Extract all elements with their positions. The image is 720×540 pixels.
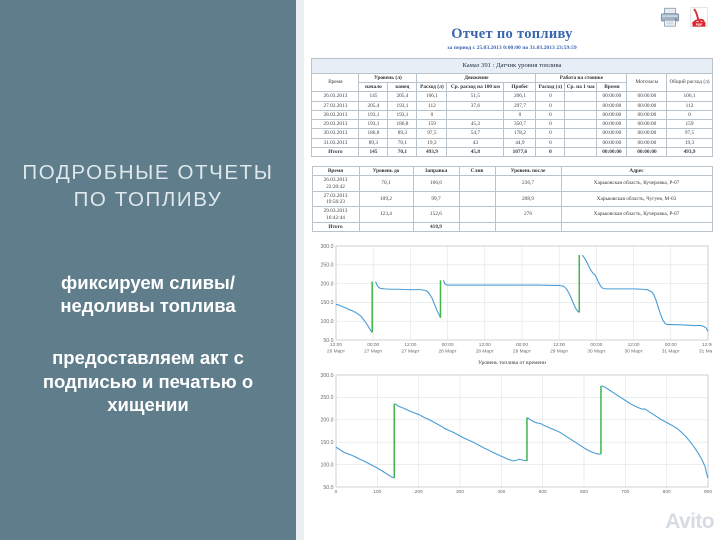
- promo-panel: Подробные отчеты по топливу фиксируем сл…: [0, 0, 296, 540]
- table-cell: 206,1: [504, 92, 536, 101]
- x-tick-time: 12:00: [330, 342, 342, 348]
- x-tick-time: 00:00: [367, 342, 379, 348]
- group-header-idle: Работа на стоянке: [536, 73, 627, 82]
- table-cell: [459, 191, 495, 207]
- x-tick-date: 30 Март: [625, 349, 644, 355]
- column-header: Уровень до: [359, 167, 413, 176]
- x-tick-label: 200: [415, 489, 423, 495]
- x-tick-date: 29 Март: [513, 349, 532, 355]
- table-cell: [459, 176, 495, 192]
- table-cell: 97,5: [667, 129, 712, 138]
- y-tick-label: 150.0: [321, 300, 334, 306]
- table-cell: 0: [536, 129, 565, 138]
- report-panel: PDF Отчет по топливу за период с 25.03.2…: [304, 0, 720, 540]
- y-tick-label: 100.0: [321, 462, 334, 468]
- device-header-row: Камаз 391 : Датчик уровня топлива: [312, 59, 712, 74]
- y-tick-label: 200.0: [321, 418, 334, 424]
- column-header: Заправка: [413, 167, 459, 176]
- table-cell: 19,3: [667, 138, 712, 147]
- table-cell: 00:00:00: [597, 129, 627, 138]
- table-cell: 89,3: [359, 138, 388, 147]
- table-row: 27.03.201319:56:23109,299,7208,9Харьковс…: [312, 191, 712, 207]
- fuel-series-line: [602, 386, 708, 478]
- x-tick-time: 00:00: [590, 342, 602, 348]
- col-header-level-end: конец: [388, 83, 417, 92]
- table-cell: 112: [667, 101, 712, 110]
- x-tick-label: 800: [663, 489, 671, 495]
- table-cell: 29.03.2013: [312, 120, 359, 129]
- table-cell: 0: [417, 110, 447, 119]
- table-cell: 186,8: [388, 120, 417, 129]
- table-cell: 193,1: [388, 110, 417, 119]
- table-cell: Итого: [312, 222, 359, 231]
- table-cell: 00:00:00: [597, 101, 627, 110]
- table-cell: 00:00:00: [627, 147, 667, 156]
- table-cell: 106,1: [417, 92, 447, 101]
- x-tick-label: 100: [373, 489, 381, 495]
- pdf-export-icon[interactable]: PDF: [688, 6, 710, 28]
- table-cell: 54,7: [447, 129, 504, 138]
- table-cell: 44,9: [504, 138, 536, 147]
- table-cell: 45,3: [447, 120, 504, 129]
- table-cell: 0: [667, 110, 712, 119]
- table-cell: 27.03.201319:56:23: [312, 191, 359, 207]
- table-cell: [565, 129, 597, 138]
- table-cell: 89,3: [388, 129, 417, 138]
- table-cell: 178,2: [504, 129, 536, 138]
- fuel-level-time-chart: 50.0100.0150.0200.0250.0300.012:0026 Мар…: [312, 242, 712, 366]
- table-cell: 208,9: [495, 191, 561, 207]
- y-tick-label: 300.0: [321, 373, 334, 379]
- table-cell: 0: [504, 110, 536, 119]
- table-cell: 152,6: [413, 207, 459, 223]
- x-tick-label: 600: [580, 489, 588, 495]
- table-cell: 0: [536, 110, 565, 119]
- x-tick-time: 00:00: [442, 342, 454, 348]
- x-tick-time: 12:00: [702, 342, 712, 348]
- x-tick-time: 00:00: [665, 342, 677, 348]
- col-header-move-consumption: Расход (л): [417, 83, 447, 92]
- x-tick-date: 27 Март: [364, 349, 383, 355]
- fuel-series-line: [336, 447, 394, 478]
- table-cell: 30.03.2013: [312, 129, 359, 138]
- table-cell: 00:00:00: [597, 120, 627, 129]
- col-header-total-consumption: Общий расход (л): [667, 73, 712, 92]
- promo-subtitle-act: предоставляем акт с подписью и печатью о…: [9, 346, 287, 417]
- fuel-group-header-row: Время Уровень (л) Движение Работа на сто…: [312, 73, 712, 82]
- table-cell: 166,6: [413, 176, 459, 192]
- table-cell: 0: [536, 138, 565, 147]
- device-label: Камаз 391 : Датчик уровня топлива: [312, 59, 712, 74]
- table-cell: 99,7: [413, 191, 459, 207]
- col-header-mileage: Пробег: [504, 83, 536, 92]
- col-header-motohours: Моточасы: [627, 73, 667, 92]
- table-cell: 493,9: [417, 147, 447, 156]
- col-header-move-avg100: Ср. расход на 100 км: [447, 83, 504, 92]
- svg-text:PDF: PDF: [696, 23, 703, 27]
- table-cell: 123,4: [359, 207, 413, 223]
- table-cell: 159: [667, 120, 712, 129]
- group-header-level: Уровень (л): [359, 73, 417, 82]
- table-cell: [565, 120, 597, 129]
- x-tick-label: 300: [456, 489, 464, 495]
- x-tick-date: 27 Март: [401, 349, 420, 355]
- table-cell: [447, 110, 504, 119]
- table-cell: 493,9: [667, 147, 712, 156]
- table-cell: 0: [536, 101, 565, 110]
- table-cell: 0: [536, 120, 565, 129]
- table-cell: Итого: [312, 147, 359, 156]
- report-toolbar: PDF: [659, 6, 710, 28]
- table-cell: 418,9: [413, 222, 459, 231]
- x-tick-date: 31 Март: [699, 349, 712, 355]
- table-cell: 00:00:00: [627, 138, 667, 147]
- promo-subtitle-drains: фиксируем сливы/ недоливы топлива: [14, 271, 282, 318]
- table-row: 28.03.2013193,1193,100000:00:0000:00:000: [312, 110, 712, 119]
- y-tick-label: 300.0: [321, 244, 334, 250]
- table-cell: [459, 207, 495, 223]
- x-tick-date: 28 Март: [476, 349, 495, 355]
- table-row: 26.03.2013145205,4106,151,5206,1000:00:0…: [312, 92, 712, 101]
- x-tick-time: 12:00: [479, 342, 491, 348]
- table-row: Итого418,9: [312, 222, 712, 231]
- fuel-table-body: 26.03.2013145205,4106,151,5206,1000:00:0…: [312, 92, 712, 157]
- table-cell: 145: [359, 92, 388, 101]
- table-cell: 00:00:00: [597, 138, 627, 147]
- table-cell: 193,1: [359, 120, 388, 129]
- fuel-summary-table: Камаз 391 : Датчик уровня топлива Время …: [311, 58, 712, 157]
- x-tick-label: 700: [621, 489, 629, 495]
- y-tick-label: 150.0: [321, 440, 334, 446]
- x-tick-date: 29 Март: [550, 349, 569, 355]
- table-cell: 00:00:00: [597, 92, 627, 101]
- x-tick-date: 31 Март: [662, 349, 681, 355]
- table-cell: 297,7: [504, 101, 536, 110]
- x-tick-label: 400: [497, 489, 505, 495]
- col-header-level-start: начало: [359, 83, 388, 92]
- table-cell: [459, 222, 495, 231]
- table-cell: 00:00:00: [627, 129, 667, 138]
- group-header-movement: Движение: [417, 73, 536, 82]
- table-row: 29.03.201316:42:44123,4152,6276Харьковск…: [312, 207, 712, 223]
- avito-watermark: Avito: [665, 510, 714, 534]
- table-cell: 205,4: [388, 92, 417, 101]
- table-cell: 51,5: [447, 92, 504, 101]
- table-cell: 37,6: [447, 101, 504, 110]
- table-cell: 00:00:00: [627, 92, 667, 101]
- fuel-series-line: [336, 304, 372, 332]
- fuel-level-time-plot: 50.0100.0150.0200.0250.0300.012:0026 Мар…: [312, 242, 712, 362]
- table-row: 26.03.201322:20:4270,1166,6236,7Харьковс…: [312, 176, 712, 192]
- table-cell: [565, 110, 597, 119]
- col-header-idle-consumption: Расход (л): [536, 83, 565, 92]
- table-cell: 27.03.2013: [312, 101, 359, 110]
- table-cell: 109,2: [359, 191, 413, 207]
- table-cell: 350,7: [504, 120, 536, 129]
- table-cell: 193,1: [388, 101, 417, 110]
- table-cell: 0: [536, 147, 565, 156]
- table-row: 30.03.2013186,889,397,554,7178,2000:00:0…: [312, 129, 712, 138]
- table-cell: [359, 222, 413, 231]
- table-cell: 159: [417, 120, 447, 129]
- table-cell: 29.03.201316:42:44: [312, 207, 359, 223]
- events-table-body: 26.03.201322:20:4270,1166,6236,7Харьковс…: [312, 176, 712, 232]
- col-header-time: Время: [312, 73, 359, 92]
- table-cell: 145: [359, 147, 388, 156]
- table-cell: [565, 147, 597, 156]
- table-row: 31.03.201389,370,119,34344,9000:00:0000:…: [312, 138, 712, 147]
- printer-icon[interactable]: [659, 6, 681, 28]
- x-tick-time: 12:00: [628, 342, 640, 348]
- table-cell: 112: [417, 101, 447, 110]
- table-cell: 00:00:00: [627, 110, 667, 119]
- table-cell: 193,1: [359, 110, 388, 119]
- table-cell: 00:00:00: [597, 147, 627, 156]
- address-cell: Харьковская область, Чугуев, М-03: [561, 191, 712, 207]
- y-tick-label: 200.0: [321, 281, 334, 287]
- table-cell: 00:00:00: [597, 110, 627, 119]
- table-cell: 45,8: [447, 147, 504, 156]
- column-header: Уровень после: [495, 167, 561, 176]
- report-period: за период с 25.03.2013 0:00:00 по 31.03.…: [309, 43, 715, 51]
- promo-headline: Подробные отчеты по топливу: [13, 159, 283, 214]
- y-tick-label: 50.0: [323, 485, 333, 491]
- table-cell: 236,7: [495, 176, 561, 192]
- table-cell: [565, 101, 597, 110]
- x-tick-time: 12:00: [553, 342, 565, 348]
- y-tick-label: 250.0: [321, 263, 334, 269]
- events-table-head: ВремяУровень доЗаправкаСливУровень после…: [312, 167, 712, 176]
- table-cell: 186,8: [359, 129, 388, 138]
- table-cell: 31.03.2013: [312, 138, 359, 147]
- col-header-idle-avg-hour: Ср. на 1 час: [565, 83, 597, 92]
- table-cell: 00:00:00: [627, 101, 667, 110]
- table-cell: 19,3: [417, 138, 447, 147]
- x-tick-time: 12:00: [404, 342, 416, 348]
- table-cell: 1077,6: [504, 147, 536, 156]
- y-tick-label: 100.0: [321, 319, 334, 325]
- events-header-row: ВремяУровень доЗаправкаСливУровень после…: [312, 167, 712, 176]
- table-cell: 28.03.2013: [312, 110, 359, 119]
- table-cell: [565, 92, 597, 101]
- x-tick-date: 28 Март: [439, 349, 458, 355]
- table-row: 29.03.2013193,1186,815945,3350,7000:00:0…: [312, 120, 712, 129]
- plot-frame: [336, 375, 708, 487]
- x-tick-label: 0: [335, 489, 338, 495]
- table-cell: 70,1: [388, 138, 417, 147]
- report-title: Отчет по топливу: [309, 0, 715, 43]
- y-tick-label: 250.0: [321, 395, 334, 401]
- fuel-level-mileage-plot: 50.0100.0150.0200.0250.0300.001002003004…: [312, 371, 712, 501]
- table-cell: 00:00:00: [627, 120, 667, 129]
- x-tick-time: 00:00: [516, 342, 528, 348]
- table-cell: 106,1: [667, 92, 712, 101]
- x-tick-date: 26 Март: [327, 349, 346, 355]
- column-header: Время: [312, 167, 359, 176]
- x-tick-date: 30 Март: [587, 349, 606, 355]
- column-header: Слив: [459, 167, 495, 176]
- table-cell: 0: [536, 92, 565, 101]
- panel-divider: [296, 0, 304, 540]
- address-cell: [561, 222, 712, 231]
- table-cell: 26.03.2013: [312, 92, 359, 101]
- table-row: Итого14570,1493,945,81077,6000:00:0000:0…: [312, 147, 712, 156]
- chart1-caption: Уровень топлива от времени: [312, 360, 712, 366]
- table-cell: 276: [495, 207, 561, 223]
- fuel-series-line: [582, 255, 708, 331]
- fuel-level-mileage-chart: 50.0100.0150.0200.0250.0300.001002003004…: [312, 371, 712, 501]
- table-cell: 70,1: [359, 176, 413, 192]
- col-header-idle-time: Время: [597, 83, 627, 92]
- x-tick-label: 500: [539, 489, 547, 495]
- address-cell: Харьковская область, Кучеровка, Р-07: [561, 176, 712, 192]
- address-cell: Харьковская область, Кучеровка, Р-07: [561, 207, 712, 223]
- refuel-events-table: ВремяУровень доЗаправкаСливУровень после…: [312, 166, 713, 232]
- table-cell: [565, 138, 597, 147]
- table-cell: 205,4: [359, 101, 388, 110]
- fuel-series-line: [527, 418, 600, 455]
- table-cell: 43: [447, 138, 504, 147]
- table-cell: 26.03.201322:20:42: [312, 176, 359, 192]
- fuel-series-line: [376, 282, 441, 318]
- table-cell: 97,5: [417, 129, 447, 138]
- column-header: Адрес: [561, 167, 712, 176]
- table-cell: [495, 222, 561, 231]
- x-tick-label: 900: [704, 489, 712, 495]
- fuel-series-line: [395, 404, 527, 461]
- table-cell: 70,1: [388, 147, 417, 156]
- table-row: 27.03.2013205,4193,111237,6297,7000:00:0…: [312, 101, 712, 110]
